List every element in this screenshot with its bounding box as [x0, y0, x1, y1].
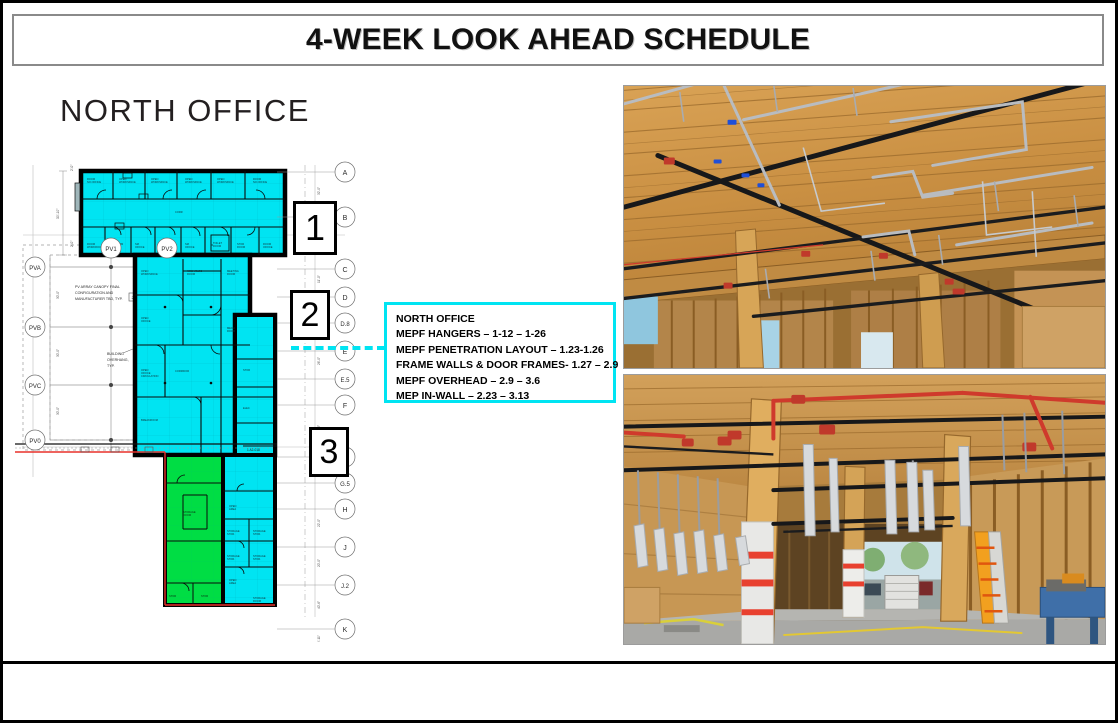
svg-text:D.8: D.8 [340, 322, 350, 328]
callout-line-mepf-penetration-layout: MEPF PENETRATION LAYOUT – 1.23-1.26 [396, 343, 613, 358]
svg-text:PVC: PVC [29, 384, 42, 390]
photo-interior-framing-hangers-ladder[interactable] [623, 374, 1106, 645]
svg-text:WORKSPACE: WORKSPACE [185, 180, 202, 184]
slide-title-box: 4-WEEK LOOK AHEAD SCHEDULE [12, 14, 1104, 66]
slide-footer: HENSEL PHELPS Plan. Build. Manage. SoCal… [3, 664, 1115, 720]
svg-text:J.2: J.2 [341, 584, 350, 590]
svg-text:ROOM: ROOM [187, 272, 195, 276]
svg-text:PVA: PVA [29, 266, 41, 272]
svg-text:STOR.: STOR. [227, 532, 235, 536]
schedule-callout-box: NORTH OFFICE MEPF HANGERS – 1-12 – 1-26 … [384, 302, 616, 403]
svg-text:STOR.: STOR. [253, 557, 261, 561]
svg-text:9'-11": 9'-11" [317, 635, 321, 642]
svg-text:CONFIGURATION AND: CONFIGURATION AND [75, 291, 114, 295]
zone-marker-2[interactable]: 2 [290, 290, 330, 340]
svg-text:D: D [342, 295, 347, 302]
svg-text:30'-0": 30'-0" [56, 291, 60, 299]
svg-text:B: B [343, 215, 348, 222]
callout-line-mep-in-wall: MEP IN-WALL – 2.23 – 3.13 [396, 389, 613, 404]
svg-text:CIRCULATION: CIRCULATION [141, 374, 159, 378]
callout-leader-line [291, 346, 385, 350]
svg-text:PV0: PV0 [29, 439, 41, 445]
photo-mass-timber-ceiling-mep-overhead[interactable] [623, 85, 1106, 369]
svg-text:30'-0": 30'-0" [56, 407, 60, 415]
page-title: 4-WEEK LOOK AHEAD SCHEDULE [306, 23, 810, 57]
svg-text:WORKSPACE: WORKSPACE [119, 180, 136, 184]
svg-text:G.5: G.5 [340, 482, 350, 488]
svg-text:STOR.: STOR. [227, 557, 235, 561]
svg-text:STOR: STOR [243, 368, 250, 372]
svg-text:PV1: PV1 [105, 247, 117, 253]
svg-text:22'-0": 22'-0" [317, 519, 321, 527]
svg-text:OFFICE: OFFICE [185, 245, 195, 249]
svg-text:NO.OFFICE: NO.OFFICE [87, 180, 101, 184]
svg-text:J: J [343, 545, 347, 552]
svg-text:OFFICE: OFFICE [141, 319, 151, 323]
callout-line-mepf-overhead: MEPF OVERHEAD – 2.9 – 3.6 [396, 374, 613, 389]
svg-text:OFFICE: OFFICE [135, 245, 145, 249]
svg-text:ELEC: ELEC [243, 406, 250, 410]
svg-text:2'-0": 2'-0" [70, 241, 74, 247]
slide-root: 4-WEEK LOOK AHEAD SCHEDULE NORTH OFFICE [0, 0, 1118, 723]
svg-text:ROOM: ROOM [227, 329, 235, 333]
svg-text:NO.OFFICE: NO.OFFICE [253, 180, 267, 184]
floor-plan-drawing[interactable]: PV ARRAY CANOPY FINAL CONFIGURATION AND … [15, 147, 415, 642]
svg-text:1 A2-018: 1 A2-018 [247, 448, 260, 452]
svg-text:ROOM: ROOM [183, 513, 191, 517]
svg-text:2'-0": 2'-0" [70, 165, 74, 171]
svg-text:C: C [342, 267, 347, 274]
callout-line-mepf-hangers: MEPF HANGERS – 1-12 – 1-26 [396, 327, 613, 342]
svg-text:TYP.: TYP. [107, 364, 115, 368]
svg-text:PV ARRAY CANOPY FINAL: PV ARRAY CANOPY FINAL [75, 285, 120, 289]
svg-text:WORKSPACE: WORKSPACE [151, 180, 168, 184]
svg-text:A: A [343, 170, 348, 177]
svg-text:20'-0": 20'-0" [317, 559, 321, 567]
svg-text:ROOM: ROOM [253, 599, 261, 603]
svg-text:40'-6": 40'-6" [317, 601, 321, 609]
svg-text:H: H [342, 507, 347, 514]
svg-text:STOR.: STOR. [253, 532, 261, 536]
svg-text:STOR: STOR [201, 594, 208, 598]
svg-text:AREA: AREA [229, 581, 236, 585]
zone-marker-1[interactable]: 1 [293, 201, 337, 255]
svg-text:E: E [343, 349, 348, 356]
callout-line-title: NORTH OFFICE [396, 312, 613, 327]
svg-text:BREAKROOM: BREAKROOM [141, 418, 158, 422]
svg-text:STOR: STOR [169, 594, 176, 598]
svg-text:11'-0": 11'-0" [317, 275, 321, 283]
svg-text:32'-0": 32'-0" [317, 187, 321, 195]
svg-text:BUILDING: BUILDING [107, 352, 124, 356]
svg-text:K: K [343, 627, 348, 634]
svg-text:F: F [343, 403, 347, 410]
svg-text:AREA: AREA [229, 507, 236, 511]
svg-text:WORKSPACE: WORKSPACE [141, 272, 158, 276]
callout-line-frame-walls-door-frames: FRAME WALLS & DOOR FRAMES- 1.27 – 2.9 [396, 358, 613, 373]
svg-text:CORRIDOR: CORRIDOR [175, 369, 189, 373]
svg-text:OVERHANG,: OVERHANG, [107, 358, 129, 362]
svg-text:PVB: PVB [29, 326, 41, 332]
svg-text:ROOM: ROOM [213, 244, 221, 248]
zone-marker-3[interactable]: 3 [309, 427, 349, 477]
svg-text:CORR: CORR [175, 210, 183, 214]
svg-text:WORKSPACE: WORKSPACE [217, 180, 234, 184]
svg-text:E.5: E.5 [340, 378, 350, 384]
svg-text:PV2: PV2 [161, 247, 173, 253]
svg-text:ROOM: ROOM [227, 272, 235, 276]
svg-text:ROOM: ROOM [237, 245, 245, 249]
svg-text:30'-0": 30'-0" [56, 349, 60, 357]
svg-text:MANUFACTURER TBD, TYP.: MANUFACTURER TBD, TYP. [75, 297, 123, 301]
svg-text:30'-10": 30'-10" [56, 208, 60, 219]
plan-heading: NORTH OFFICE [60, 93, 310, 129]
svg-text:OFFICE: OFFICE [263, 245, 273, 249]
svg-text:26'-0": 26'-0" [317, 357, 321, 365]
